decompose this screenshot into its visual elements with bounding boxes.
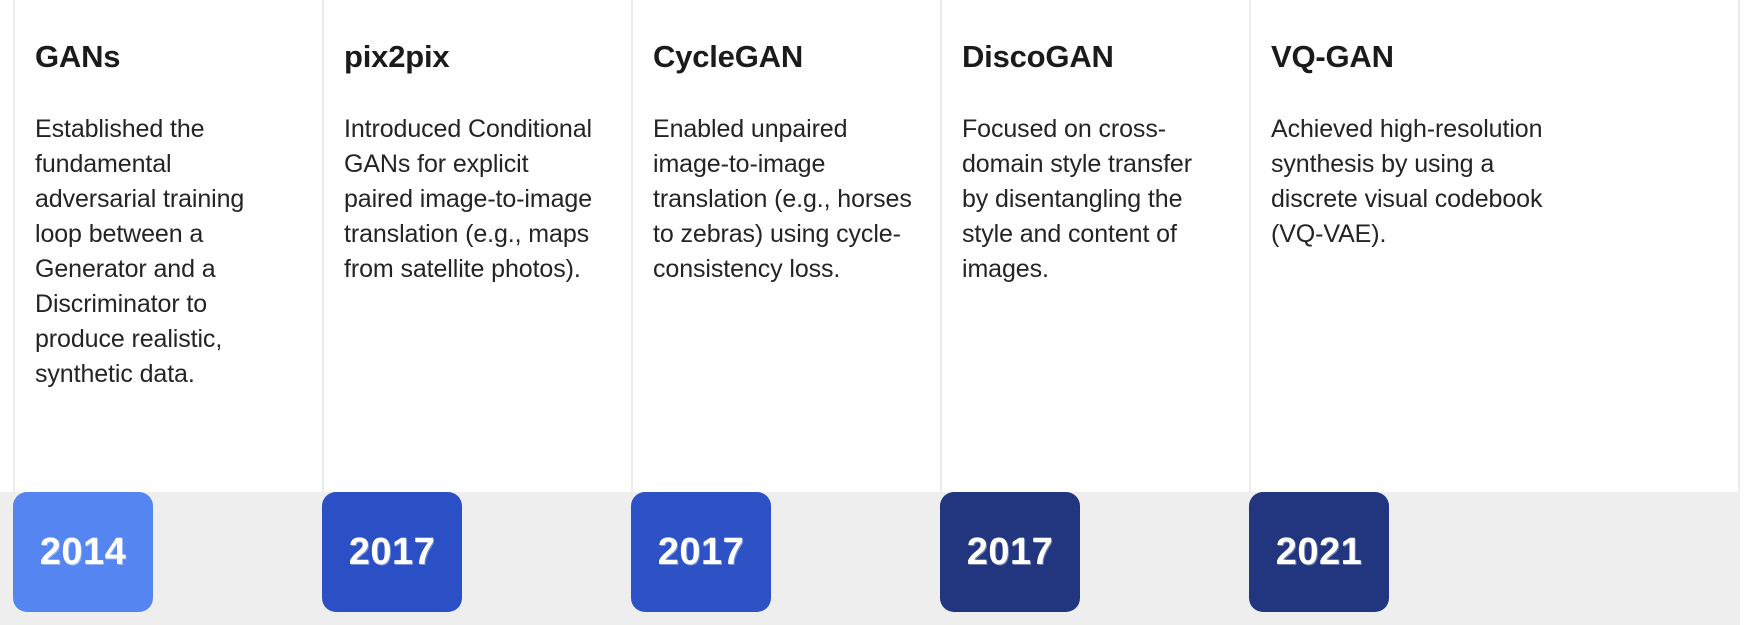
timeline-card-cyclegan: CycleGAN Enabled unpaired image-to-image…: [631, 0, 940, 492]
card-description: Established the fundamental adversarial …: [35, 112, 294, 392]
timeline-card-gans: GANs Established the fundamental adversa…: [13, 0, 322, 492]
card-description: Achieved high-resolution synthesis by us…: [1271, 112, 1561, 252]
right-border-divider: [1738, 0, 1740, 492]
card-title: CycleGAN: [653, 40, 912, 74]
year-cell-gans: 2014: [0, 492, 309, 612]
year-badges-row: 2014 2017 2017 2017 2021: [0, 492, 1740, 625]
card-description: Enabled unpaired image-to-image translat…: [653, 112, 912, 287]
year-badge-2021[interactable]: 2021: [1249, 492, 1389, 612]
year-cell-pix2pix: 2017: [309, 492, 618, 612]
card-title: pix2pix: [344, 40, 603, 74]
year-badge-2017-pix2pix[interactable]: 2017: [322, 492, 462, 612]
year-cell-discogan: 2017: [927, 492, 1236, 612]
card-description: Introduced Conditional GANs for explicit…: [344, 112, 603, 287]
timeline-card-pix2pix: pix2pix Introduced Conditional GANs for …: [322, 0, 631, 492]
card-description: Focused on cross-domain style transfer b…: [962, 112, 1221, 287]
year-badge-2017-cyclegan[interactable]: 2017: [631, 492, 771, 612]
year-badge-2014[interactable]: 2014: [13, 492, 153, 612]
gan-timeline: GANs Established the fundamental adversa…: [0, 0, 1755, 625]
description-cards-row: GANs Established the fundamental adversa…: [13, 0, 1740, 492]
timeline-card-vqgan: VQ-GAN Achieved high-resolution synthesi…: [1249, 0, 1740, 492]
year-cell-cyclegan: 2017: [618, 492, 927, 612]
card-title: VQ-GAN: [1271, 40, 1710, 74]
card-title: GANs: [35, 40, 294, 74]
timeline-card-discogan: DiscoGAN Focused on cross-domain style t…: [940, 0, 1249, 492]
card-title: DiscoGAN: [962, 40, 1221, 74]
year-badge-2017-discogan[interactable]: 2017: [940, 492, 1080, 612]
year-cell-vqgan: 2021: [1236, 492, 1545, 612]
